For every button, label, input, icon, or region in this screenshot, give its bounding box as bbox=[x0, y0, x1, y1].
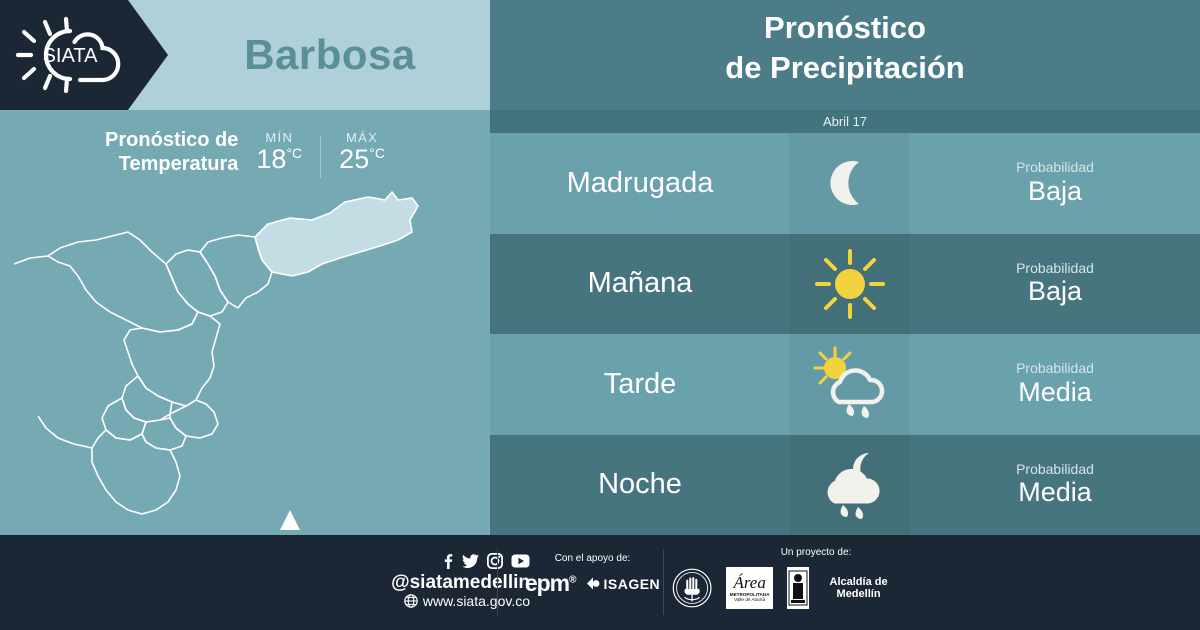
unal-seal-icon bbox=[672, 564, 712, 612]
probability-cell: Probabilidad Media bbox=[910, 334, 1200, 435]
page-title: Barbosa bbox=[170, 0, 490, 110]
weather-icon-cell bbox=[790, 334, 910, 435]
forecast-row[interactable]: Tarde bbox=[490, 334, 1200, 435]
project-logos: Área METROPOLITANA Valle de Aburrá Alcal… bbox=[672, 564, 902, 612]
isagen-mark-icon bbox=[585, 576, 600, 591]
weather-icon-cell bbox=[790, 133, 910, 234]
epm-logo: epm® bbox=[525, 570, 576, 597]
social-block: @siatamedellin www.siata.gov.co bbox=[330, 553, 530, 609]
alcaldia-crest-icon bbox=[787, 567, 809, 609]
forecast-rows: Madrugada Probabilidad Baja Mañana bbox=[490, 133, 1200, 535]
forecast-row[interactable]: Noche Probabilidad Media bbox=[490, 435, 1200, 536]
support-block: Con el apoyo de: epm® ISAGEN bbox=[505, 553, 680, 597]
map-region-itagui bbox=[122, 376, 172, 422]
map-region-sabaneta bbox=[142, 418, 186, 450]
globe-icon bbox=[404, 594, 418, 608]
temperature-max: MÁX 25°C bbox=[339, 130, 385, 173]
alcaldia-logo-group: Alcaldía de Medellín bbox=[787, 567, 902, 609]
temperature-min-unit: °C bbox=[286, 145, 302, 161]
instagram-icon[interactable] bbox=[487, 553, 503, 569]
period-label: Tarde bbox=[490, 334, 790, 435]
probability-value: Media bbox=[1018, 377, 1092, 407]
facebook-icon[interactable] bbox=[441, 553, 454, 569]
period-label: Mañana bbox=[490, 234, 790, 335]
temperature-title-line1: Pronóstico de bbox=[105, 128, 238, 152]
temperature-panel: Pronóstico de Temperatura MÍN 18°C MÁX 2… bbox=[0, 110, 490, 535]
precipitation-panel: Pronóstico de Precipitación Abril 17 Mad… bbox=[490, 0, 1200, 535]
website-row[interactable]: www.siata.gov.co bbox=[330, 593, 530, 609]
area-metropolitana-logo: Área METROPOLITANA Valle de Aburrá bbox=[726, 567, 773, 609]
forecast-row[interactable]: Mañana bbox=[490, 234, 1200, 335]
sun-cloud-rain-icon bbox=[809, 346, 891, 422]
support-logos: epm® ISAGEN bbox=[505, 570, 680, 597]
temperature-max-value: 25°C bbox=[339, 145, 385, 173]
isagen-logo: ISAGEN bbox=[585, 576, 660, 592]
map-region-bello bbox=[48, 232, 198, 332]
temperature-min-value: 18°C bbox=[256, 145, 302, 173]
map-region-copacabana bbox=[166, 250, 228, 316]
probability-value: Media bbox=[1018, 477, 1092, 507]
probability-label: Probabilidad bbox=[1016, 361, 1094, 377]
map-region-caldas bbox=[92, 430, 180, 514]
probability-label: Probabilidad bbox=[1016, 160, 1094, 176]
forecast-title-line2: de Precipitación bbox=[490, 48, 1200, 88]
alcaldia-label: Alcaldía de Medellín bbox=[815, 576, 902, 600]
probability-cell: Probabilidad Baja bbox=[910, 133, 1200, 234]
north-arrow-icon: N bbox=[280, 510, 300, 530]
temperature-min: MÍN 18°C bbox=[256, 130, 302, 173]
forecast-title: Pronóstico de Precipitación bbox=[490, 8, 1200, 87]
social-icons bbox=[330, 553, 530, 569]
twitter-icon[interactable] bbox=[462, 553, 479, 569]
logo-banner: SIATA bbox=[0, 0, 170, 110]
sun-icon bbox=[813, 247, 887, 321]
probability-value: Baja bbox=[1028, 176, 1082, 206]
map-svg: N bbox=[0, 180, 490, 530]
probability-cell: Probabilidad Baja bbox=[910, 234, 1200, 335]
forecast-title-line1: Pronóstico bbox=[490, 8, 1200, 48]
probability-label: Probabilidad bbox=[1016, 462, 1094, 478]
temperature-max-unit: °C bbox=[369, 145, 385, 161]
forecast-row[interactable]: Madrugada Probabilidad Baja bbox=[490, 133, 1200, 234]
map-region-west-edge bbox=[14, 256, 92, 448]
probability-cell: Probabilidad Media bbox=[910, 435, 1200, 536]
probability-label: Probabilidad bbox=[1016, 261, 1094, 277]
temperature-min-label: MÍN bbox=[265, 130, 293, 145]
temperature-divider bbox=[320, 136, 321, 178]
footer-divider-2 bbox=[663, 549, 664, 615]
map-region-envigado bbox=[170, 400, 218, 438]
temperature-summary: Pronóstico de Temperatura MÍN 18°C MÁX 2… bbox=[0, 118, 490, 186]
period-label: Noche bbox=[490, 435, 790, 536]
moon-cloud-rain-icon bbox=[809, 447, 891, 523]
project-title: Un proyecto de: bbox=[730, 547, 902, 558]
period-label: Madrugada bbox=[490, 133, 790, 234]
municipality-map: N bbox=[0, 180, 490, 530]
forecast-date: Abril 17 bbox=[490, 110, 1200, 133]
support-title: Con el apoyo de: bbox=[505, 553, 680, 564]
temperature-title: Pronóstico de Temperatura bbox=[105, 128, 238, 177]
map-region-barbosa bbox=[255, 192, 418, 276]
project-block: Un proyecto de: Área bbox=[672, 547, 902, 612]
footer-divider bbox=[497, 549, 498, 615]
infographic-root: SIATA Barbosa Pronóstico de Temperatura … bbox=[0, 0, 1200, 630]
temperature-max-label: MÁX bbox=[346, 130, 378, 145]
header: SIATA Barbosa bbox=[0, 0, 490, 110]
siata-logo-text: SIATA bbox=[43, 45, 98, 67]
probability-value: Baja bbox=[1028, 276, 1082, 306]
siata-logo-icon: SIATA bbox=[14, 14, 126, 96]
footer: @siatamedellin www.siata.gov.co Con el a… bbox=[0, 535, 1200, 630]
weather-icon-cell bbox=[790, 234, 910, 335]
weather-icon-cell bbox=[790, 435, 910, 536]
social-handle[interactable]: @siatamedellin bbox=[330, 572, 530, 593]
moon-icon bbox=[815, 148, 885, 218]
map-region-la-estrella bbox=[102, 398, 146, 440]
temperature-title-line2: Temperatura bbox=[105, 152, 238, 176]
